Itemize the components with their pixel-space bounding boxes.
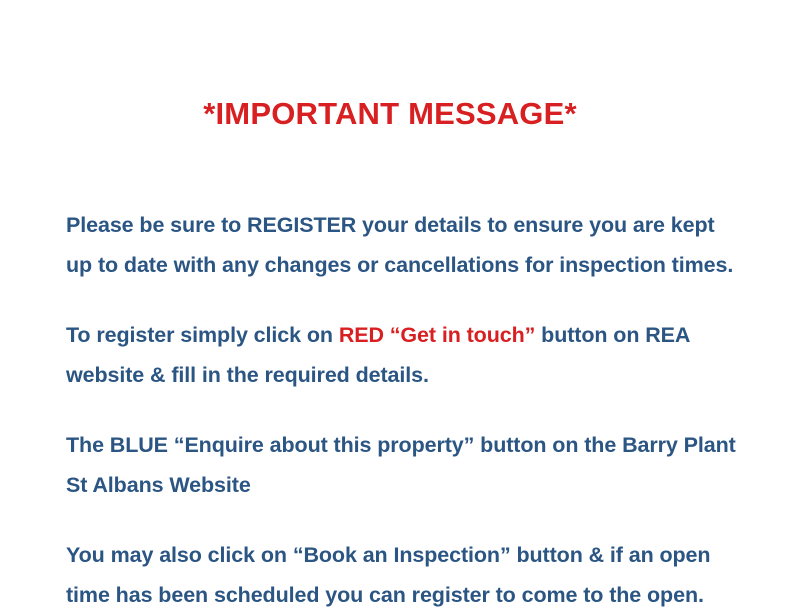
paragraph-book-an-inspection: You may also click on “Book an Inspectio… <box>66 535 742 615</box>
page-title: *IMPORTANT MESSAGE* <box>40 96 740 132</box>
slide-canvas: *IMPORTANT MESSAGE* Please be sure to RE… <box>0 0 800 600</box>
paragraph-register-details: Please be sure to REGISTER your details … <box>66 205 742 285</box>
emphasis-red-get-in-touch: RED “Get in touch” <box>339 323 535 347</box>
paragraph-barry-plant-enquire: The BLUE “Enquire about this property” b… <box>66 425 742 505</box>
body-content: Please be sure to REGISTER your details … <box>66 205 742 615</box>
title-block: *IMPORTANT MESSAGE* <box>40 96 740 132</box>
paragraph-text: Please be sure to REGISTER your details … <box>66 213 733 277</box>
paragraph-text: You may also click on “Book an Inspectio… <box>66 543 710 607</box>
paragraph-lead-text: To register simply click on <box>66 323 339 347</box>
paragraph-rea-get-in-touch: To register simply click on RED “Get in … <box>66 315 742 395</box>
paragraph-text: The BLUE “Enquire about this property” b… <box>66 433 736 497</box>
